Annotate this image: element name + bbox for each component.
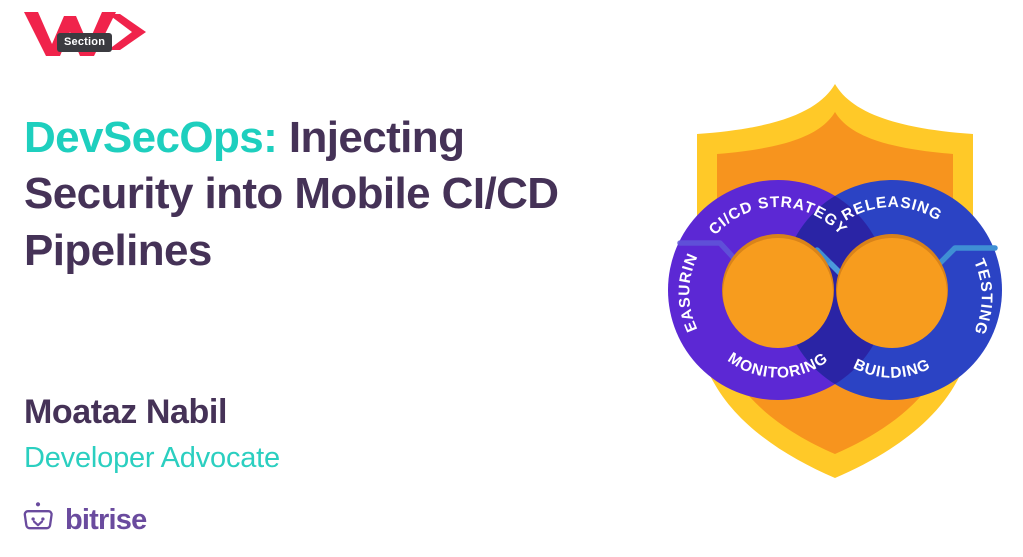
speaker-role: Developer Advocate — [24, 441, 444, 476]
presentation-slide: Section DevSecOps: Injecting Security in… — [0, 0, 1023, 557]
right-hub — [836, 234, 948, 348]
section-badge: Section — [57, 33, 112, 52]
page-title: DevSecOps: Injecting Security into Mobil… — [24, 110, 584, 279]
title-accent: DevSecOps: — [24, 113, 277, 162]
bitrise-logo-lockup: bitrise — [20, 500, 146, 541]
left-hub — [722, 234, 834, 348]
bitrise-robot-icon — [20, 500, 56, 541]
devsecops-infinity-shield-graphic: CI/CD STRATEGY MEASURING MONITORING RELE… — [645, 78, 1023, 484]
speaker-name: Moataz Nabil — [24, 392, 444, 433]
bitrise-wordmark: bitrise — [65, 506, 146, 535]
speaker-block: Moataz Nabil Developer Advocate — [24, 392, 444, 476]
